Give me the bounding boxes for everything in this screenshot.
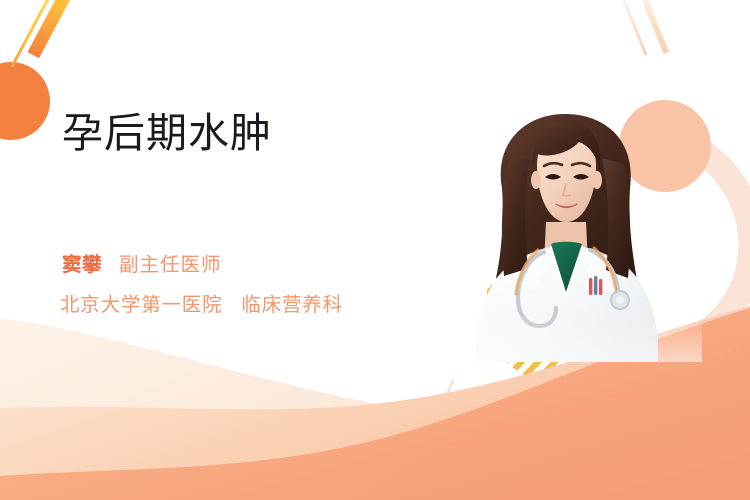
title-block: 孕后期水肿 [62,108,462,158]
top-right-stripe-b-decoration [615,0,647,56]
orange-circle-decoration [0,62,50,140]
page-title: 孕后期水肿 [62,108,462,158]
presenter-line: 窦攀 副主任医师 [62,248,222,277]
top-right-stripe-a-decoration [633,0,669,54]
presenter-hospital: 北京大学第一医院 [60,293,222,316]
presenter-department: 临床营养科 [241,293,343,316]
top-left-thick-stripe-decoration [28,0,78,58]
slide-canvas: 孕后期水肿 窦攀 副主任医师 北京大学第一医院 临床营养科 [0,0,750,500]
affiliation-line: 北京大学第一医院 临床营养科 [60,288,343,317]
doctor-portrait-photo [432,92,702,362]
presenter-role: 副主任医师 [119,248,222,277]
presenter-name: 窦攀 [62,248,102,277]
